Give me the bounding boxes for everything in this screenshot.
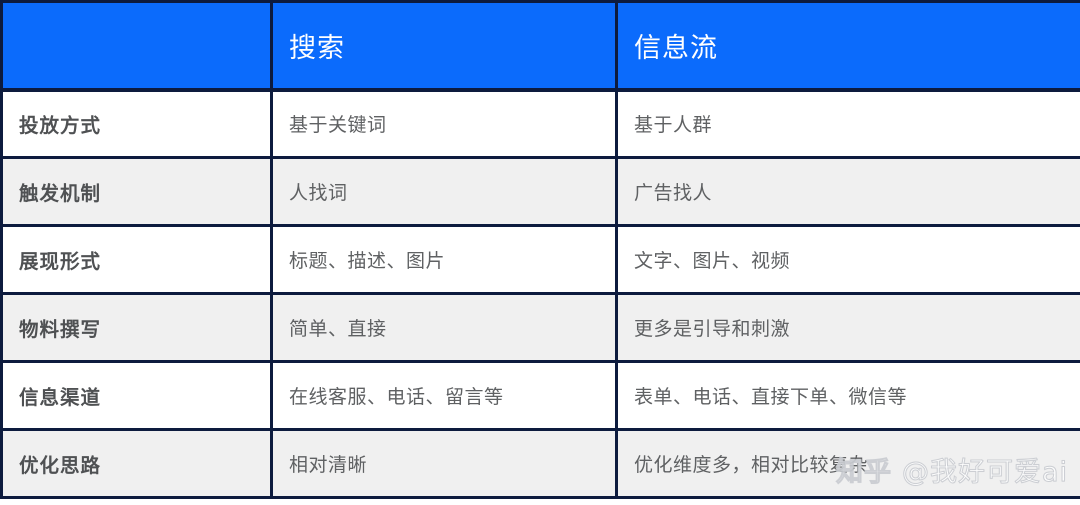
- table-header-cell-blank: [2, 2, 272, 90]
- cell-feed-xinxiqudao: 表单、电话、直接下单、微信等: [617, 362, 1080, 430]
- table-header-cell-search: 搜索: [272, 2, 617, 90]
- row-label-touifangfangshi: 投放方式: [2, 90, 272, 158]
- cell-feed-touifangfangshi: 基于人群: [617, 90, 1080, 158]
- table-header: 搜索 信息流: [2, 2, 1080, 90]
- table-row: 优化思路 相对清晰 优化维度多，相对比较复杂: [2, 430, 1080, 498]
- cell-search-zhanxianxingshi: 标题、描述、图片: [272, 226, 617, 294]
- cell-search-xinxiqudao: 在线客服、电话、留言等: [272, 362, 617, 430]
- cell-search-touifangfangshi: 基于关键词: [272, 90, 617, 158]
- cell-search-chufajizhi: 人找词: [272, 158, 617, 226]
- table-header-row: 搜索 信息流: [2, 2, 1080, 90]
- table-row: 信息渠道 在线客服、电话、留言等 表单、电话、直接下单、微信等: [2, 362, 1080, 430]
- row-label-xinxiqudao: 信息渠道: [2, 362, 272, 430]
- table-body: 投放方式 基于关键词 基于人群 触发机制 人找词 广告找人 展现形式 标题、描述…: [2, 90, 1080, 498]
- cell-feed-wuliaozhuanxie: 更多是引导和刺激: [617, 294, 1080, 362]
- comparison-table: 搜索 信息流 投放方式 基于关键词 基于人群 触发机制 人找词 广告找人 展现形…: [0, 0, 1080, 499]
- row-label-wuliaozhuanxie: 物料撰写: [2, 294, 272, 362]
- cell-feed-zhanxianxingshi: 文字、图片、视频: [617, 226, 1080, 294]
- row-label-chufajizhi: 触发机制: [2, 158, 272, 226]
- row-label-youhuasilu: 优化思路: [2, 430, 272, 498]
- screenshot-canvas: 搜索 信息流 投放方式 基于关键词 基于人群 触发机制 人找词 广告找人 展现形…: [0, 0, 1080, 505]
- cell-search-wuliaozhuanxie: 简单、直接: [272, 294, 617, 362]
- table-row: 展现形式 标题、描述、图片 文字、图片、视频: [2, 226, 1080, 294]
- cell-feed-youhuasilu: 优化维度多，相对比较复杂: [617, 430, 1080, 498]
- row-label-zhanxianxingshi: 展现形式: [2, 226, 272, 294]
- table-header-cell-feed: 信息流: [617, 2, 1080, 90]
- cell-feed-chufajizhi: 广告找人: [617, 158, 1080, 226]
- table-row: 物料撰写 简单、直接 更多是引导和刺激: [2, 294, 1080, 362]
- table-row: 投放方式 基于关键词 基于人群: [2, 90, 1080, 158]
- cell-search-youhuasilu: 相对清晰: [272, 430, 617, 498]
- table-row: 触发机制 人找词 广告找人: [2, 158, 1080, 226]
